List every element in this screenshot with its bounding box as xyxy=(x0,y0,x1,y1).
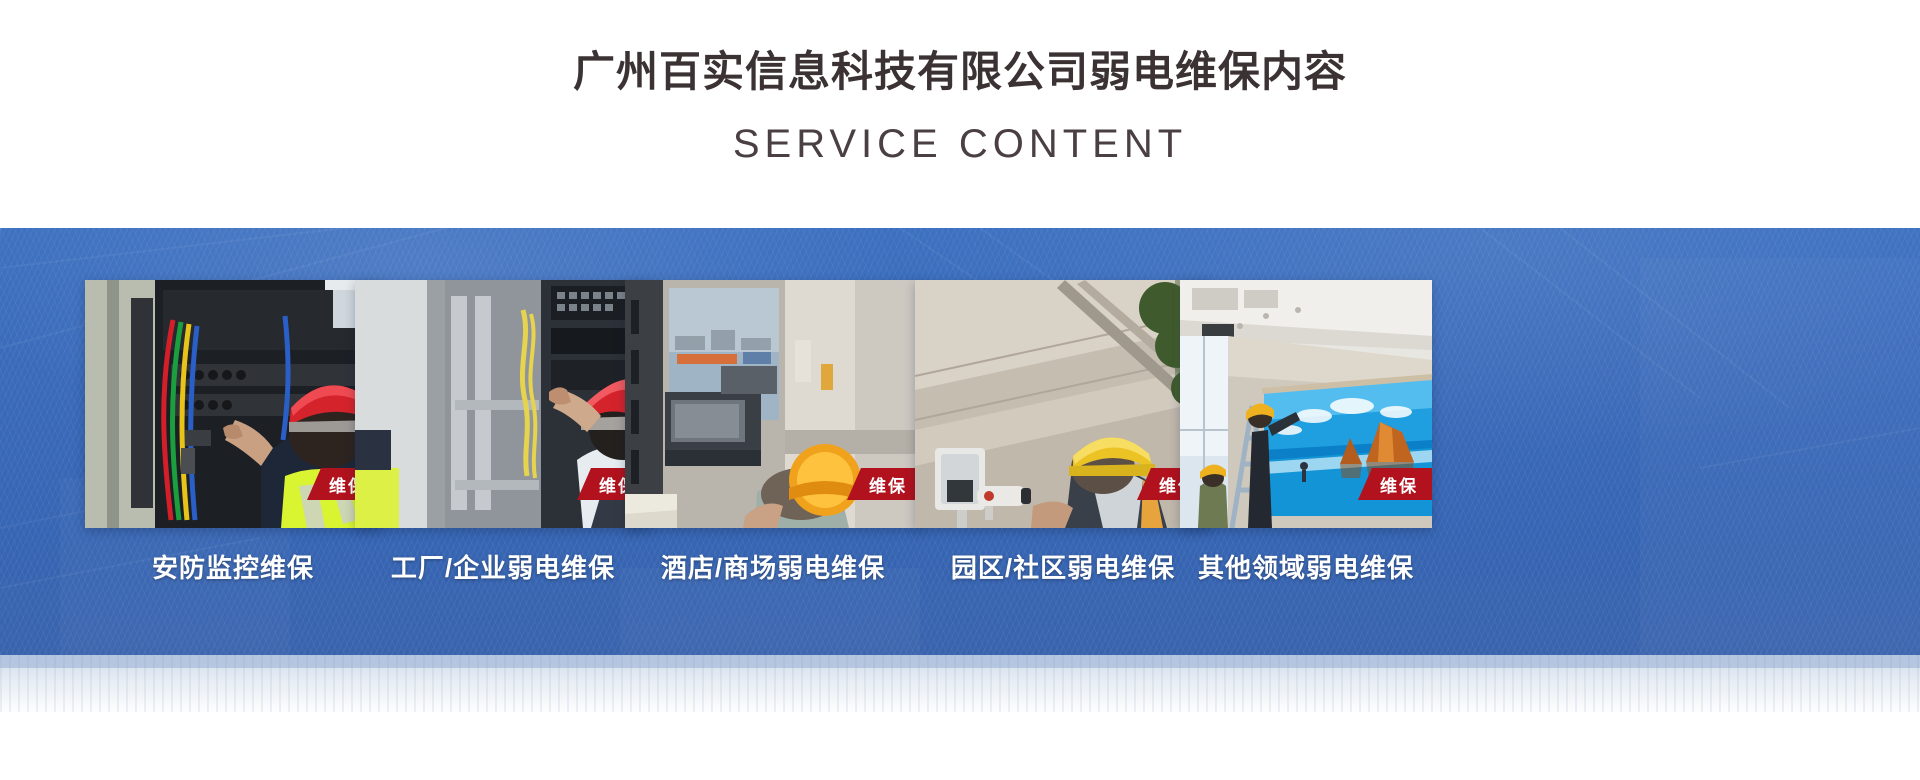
page-subtitle: SERVICE CONTENT xyxy=(0,122,1920,167)
page-title: 广州百实信息科技有限公司弱电维保内容 xyxy=(0,38,1920,99)
service-content-page: 广州百实信息科技有限公司弱电维保内容 SERVICE CONTENT xyxy=(0,0,1920,780)
service-card-2[interactable]: 维保 工厂/企业弱电维保 xyxy=(355,280,651,528)
service-card-2-image: 维保 xyxy=(355,280,651,528)
service-card-4[interactable]: 维保 园区/社区弱电维保 xyxy=(915,280,1211,528)
service-card-5-label: 其他领域弱电维保 xyxy=(1142,548,1470,585)
footer-whitespace xyxy=(0,712,1920,780)
page-header: 广州百实信息科技有限公司弱电维保内容 SERVICE CONTENT xyxy=(0,0,1920,228)
service-card-5-image: 维保 xyxy=(1180,280,1432,528)
service-card-1[interactable]: 维保 安防监控维保 xyxy=(85,280,381,528)
band-bottom-fade xyxy=(0,655,1920,715)
service-card-1-image: 维保 xyxy=(85,280,381,528)
service-card-3-label: 酒店/商场弱电维保 xyxy=(609,548,937,585)
service-card-5[interactable]: 维保 其他领域弱电维保 xyxy=(1180,280,1432,528)
service-card-3[interactable]: 维保 酒店/商场弱电维保 xyxy=(625,280,921,528)
service-card-list: 维保 安防监控维保 xyxy=(0,228,1920,668)
service-card-4-image: 维保 xyxy=(915,280,1211,528)
service-card-3-image: 维保 xyxy=(625,280,921,528)
